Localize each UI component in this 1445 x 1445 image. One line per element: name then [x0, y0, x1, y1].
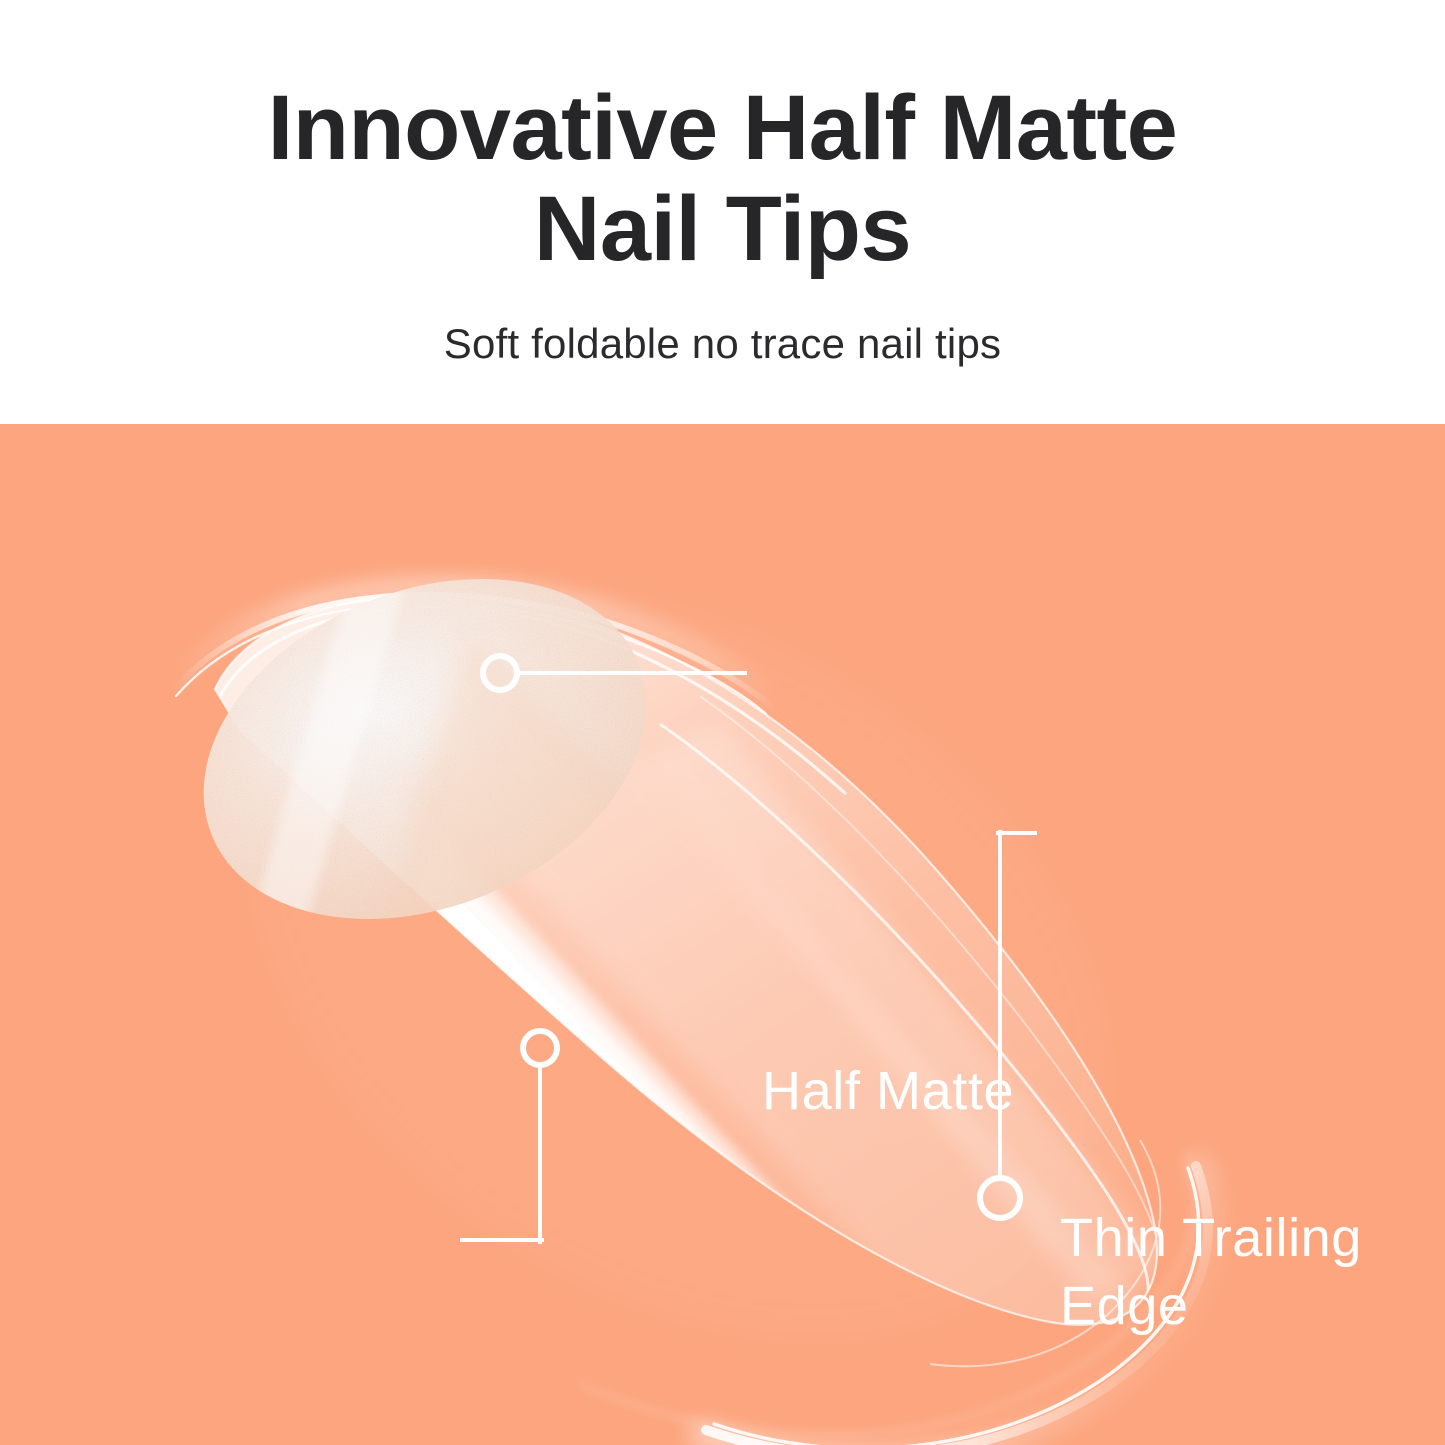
product-panel: Half Matte Thin Trailing Edge No Crease — [0, 424, 1445, 1445]
page-title: Innovative Half Matte Nail Tips — [0, 78, 1445, 280]
callout-label-half-matte: Half Matte — [762, 1060, 1014, 1122]
callout-label-thin-trailing-edge: Thin Trailing Edge — [1060, 1204, 1362, 1340]
header-band: Innovative Half Matte Nail Tips Soft fol… — [0, 0, 1445, 424]
infographic-page: Innovative Half Matte Nail Tips Soft fol… — [0, 0, 1445, 1445]
page-subtitle: Soft foldable no trace nail tips — [0, 318, 1445, 370]
